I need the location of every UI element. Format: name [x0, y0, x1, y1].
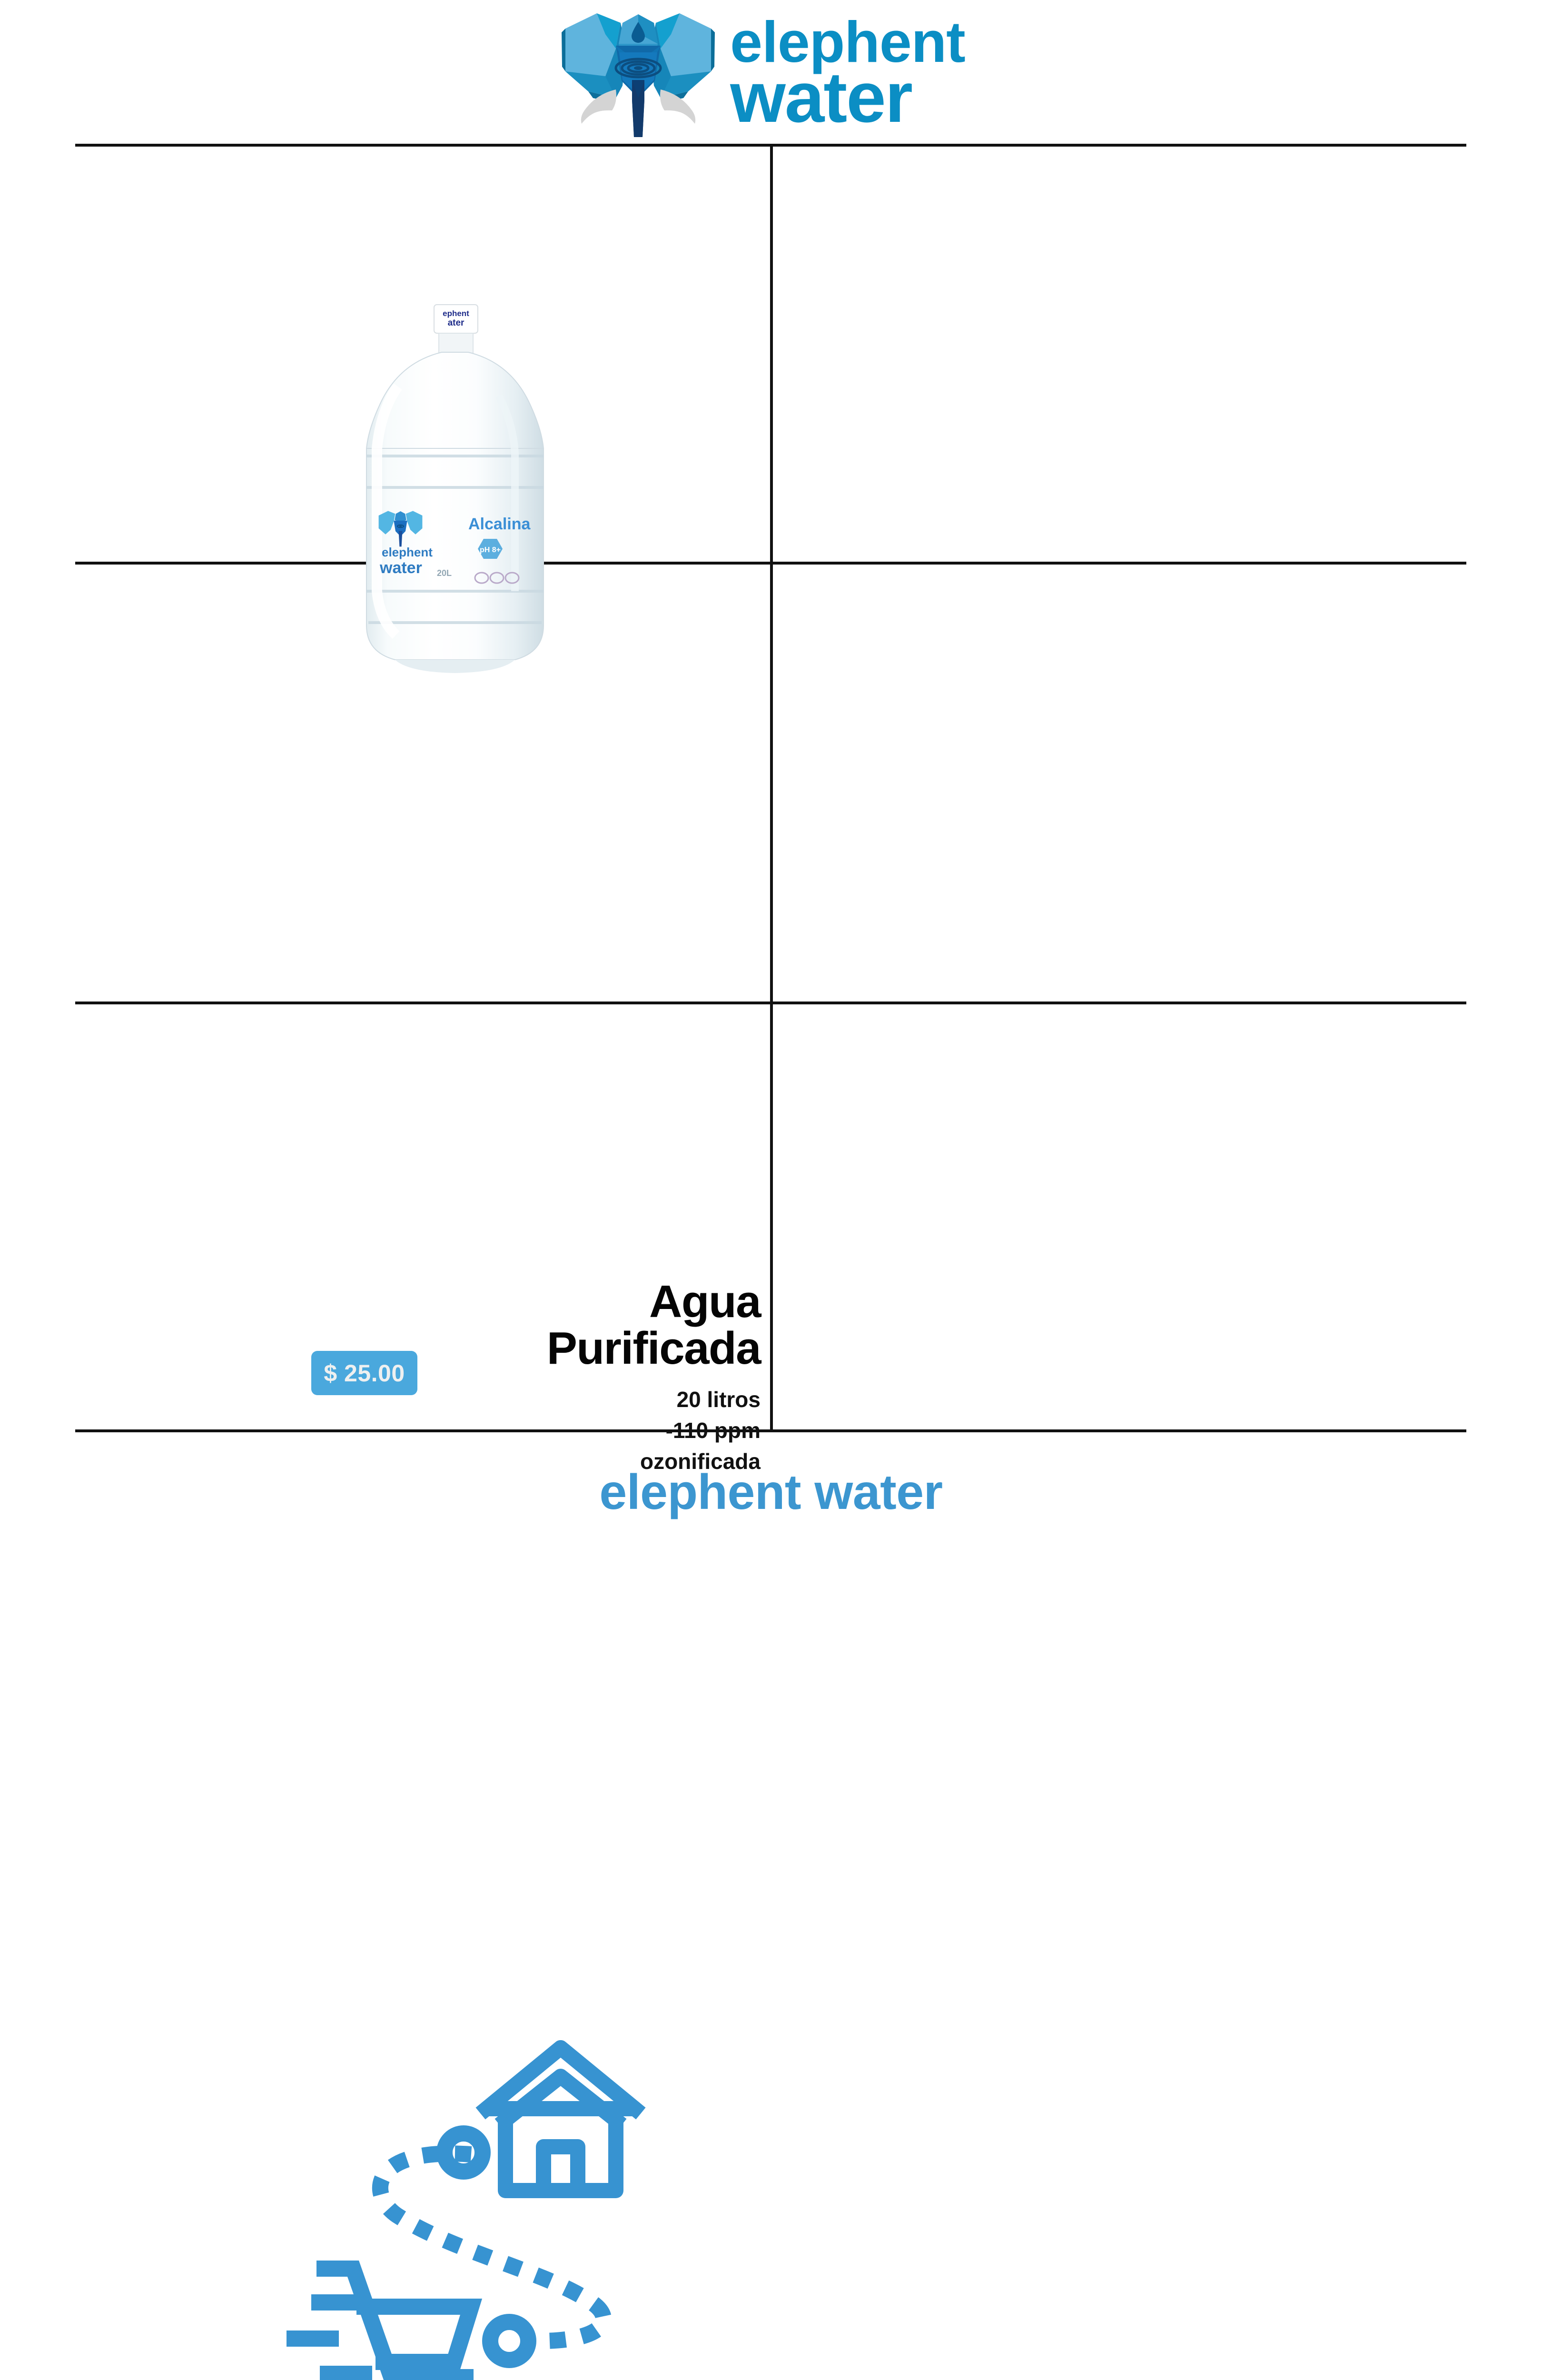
poster-canvas: elephent water ephent	[0, 0, 1542, 1542]
svg-text:pH 8+: pH 8+	[480, 546, 501, 554]
footer: elephent water	[0, 1452, 1542, 1533]
brand-line-2: water	[730, 67, 965, 128]
svg-text:ephent: ephent	[443, 309, 469, 318]
svg-text:Alcalina: Alcalina	[468, 515, 531, 533]
cell-purificada-image: ephent ater elephent water 20	[773, 565, 1466, 1002]
cell-alcalina-info: Agua Alcalina 20 litros pH 8 + ozononifi…	[773, 144, 1466, 562]
brand-logo: elephent water	[560, 5, 965, 140]
cell-reparto-image	[75, 1004, 770, 1429]
header: elephent water	[0, 0, 1542, 145]
footer-brand-text: elephent water	[599, 1464, 942, 1521]
cell-purificada-info: Agua Purificada 20 litros -110 ppm ozoni…	[75, 565, 770, 1002]
svg-text:ater: ater	[448, 318, 465, 328]
cell-alcalina-image: ephent ater	[75, 144, 770, 562]
cell-reparto-info: Servicio de reparto Coacalco centro y Vi…	[773, 1004, 1466, 1429]
delivery-route-icon	[285, 2013, 665, 2380]
brand-wordmark: elephent water	[730, 17, 965, 129]
svg-text:elephent: elephent	[382, 545, 433, 559]
elephant-head-logo-icon	[560, 5, 717, 140]
